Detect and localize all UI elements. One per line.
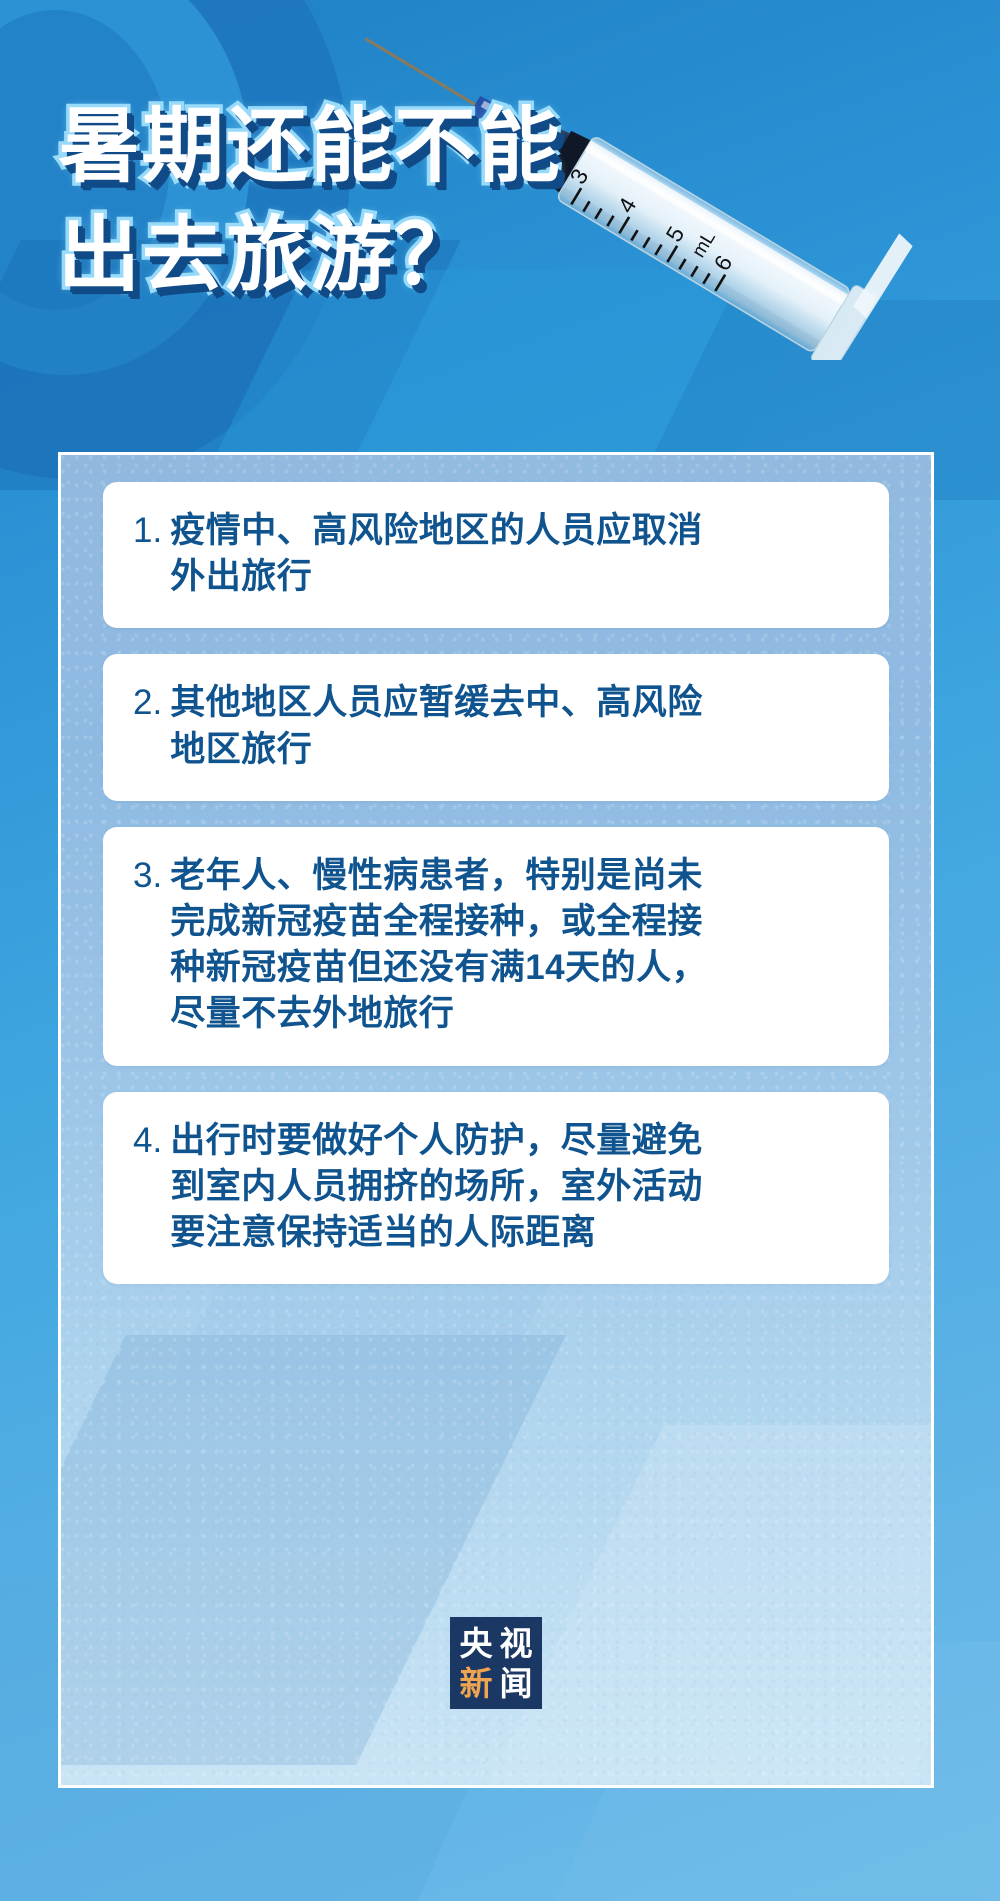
card-index: 3.	[133, 853, 162, 899]
advice-card: 2. 其他地区人员应暂缓去中、高风险 地区旅行	[103, 654, 889, 800]
content-panel: 1. 疫情中、高风险地区的人员应取消 外出旅行 2. 其他地区人员应暂缓去中、高…	[58, 452, 934, 1788]
advice-card: 4. 出行时要做好个人防护，尽量避免 到室内人员拥挤的场所，室外活动 要注意保持…	[103, 1092, 889, 1285]
card-text: 老年人、慢性病患者，特别是尚未 完成新冠疫苗全程接种，或全程接 种新冠疫苗但还没…	[170, 853, 859, 1038]
page-title: 暑期还能不能 出去旅游？	[58, 96, 562, 307]
logo-char-yang: 央	[460, 1627, 493, 1660]
title-line-1: 暑期还能不能	[58, 96, 562, 199]
advice-card: 3. 老年人、慢性病患者，特别是尚未 完成新冠疫苗全程接种，或全程接 种新冠疫苗…	[103, 827, 889, 1066]
card-index: 4.	[133, 1118, 162, 1164]
logo-char-shi: 视	[500, 1627, 533, 1660]
cctv-news-logo: 央 视 新 闻	[450, 1617, 542, 1709]
poster-root: 3 4 5 6 mL 暑期还能不能 出去旅游？	[0, 0, 1000, 1901]
advice-card: 1. 疫情中、高风险地区的人员应取消 外出旅行	[103, 482, 889, 628]
card-index: 1.	[133, 508, 162, 554]
card-index: 2.	[133, 680, 162, 726]
poster-header: 3 4 5 6 mL 暑期还能不能 出去旅游？	[0, 0, 1000, 400]
card-text: 其他地区人员应暂缓去中、高风险 地区旅行	[170, 680, 859, 772]
logo-container: 央 视 新 闻	[61, 1617, 931, 1709]
logo-char-xin: 新	[460, 1667, 493, 1700]
card-text: 疫情中、高风险地区的人员应取消 外出旅行	[170, 508, 859, 600]
panel-facet-b	[478, 1425, 934, 1788]
card-text: 出行时要做好个人防护，尽量避免 到室内人员拥挤的场所，室外活动 要注意保持适当的…	[170, 1118, 859, 1257]
advice-card-list: 1. 疫情中、高风险地区的人员应取消 外出旅行 2. 其他地区人员应暂缓去中、高…	[61, 455, 931, 1284]
logo-char-wen: 闻	[500, 1667, 533, 1700]
title-line-2: 出去旅游？	[58, 205, 562, 308]
